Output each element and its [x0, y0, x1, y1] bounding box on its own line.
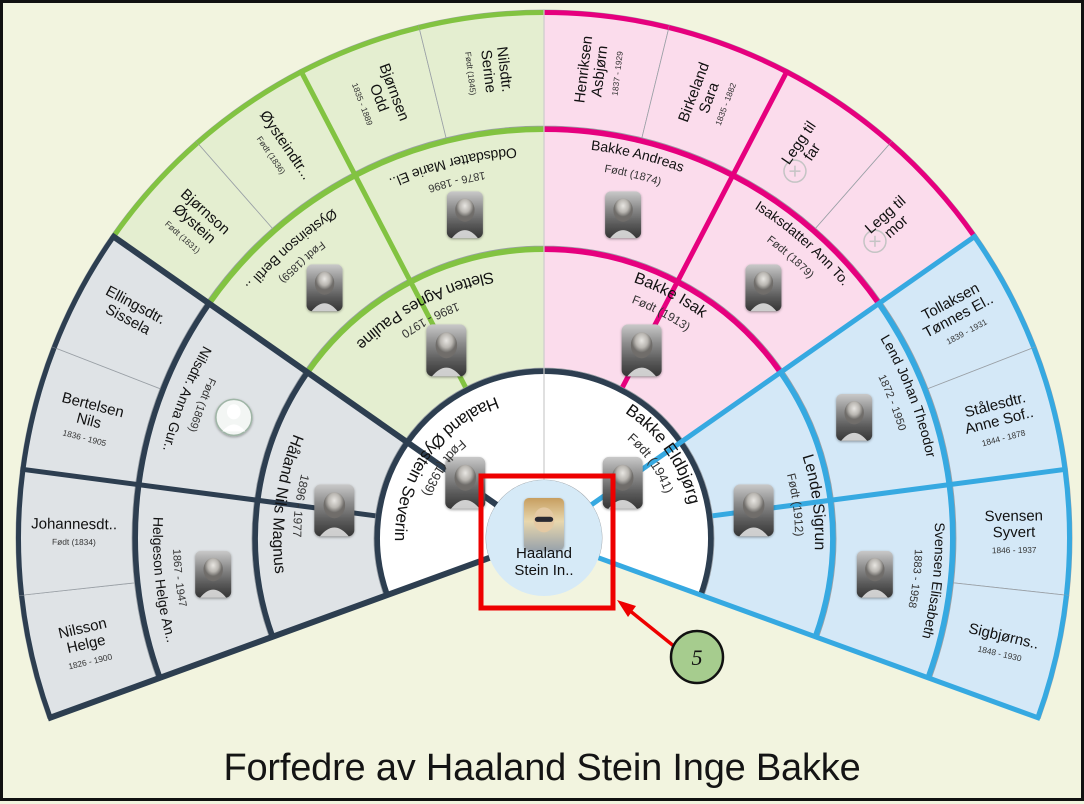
person-label: Nilsdtr.SerineFødt (1845): [463, 46, 515, 97]
person-dates: Født (1834): [52, 537, 96, 547]
person-dates: 1846 - 1937: [992, 545, 1037, 555]
annotation-arrow: [624, 606, 675, 647]
portrait-photo: [734, 484, 774, 536]
center-person-node[interactable]: HaalandStein In..: [486, 480, 602, 596]
portrait-photo: [745, 264, 781, 311]
portrait-photo: [857, 551, 893, 598]
portrait-photo: [836, 394, 872, 441]
person-label: SvensenSyvert1846 - 1937: [985, 507, 1044, 555]
chart-title: Forfedre av Haaland Stein Inge Bakke: [3, 747, 1081, 790]
portrait-photo: [426, 324, 466, 376]
portrait-photo: [447, 191, 483, 238]
placeholder-avatar: [216, 399, 252, 435]
step-marker-label: 5: [692, 645, 703, 670]
center-name-line2: Stein In..: [514, 562, 573, 579]
ancestor-fan-chart[interactable]: Haaland Øystein SeverinFødt (1939)Bakke …: [3, 3, 1084, 804]
portrait-photo: [603, 457, 643, 509]
portrait-photo: [307, 264, 343, 311]
person-name: Johannesdt..: [31, 515, 117, 533]
portrait-photo: [195, 551, 231, 598]
fan-segments: [16, 10, 1072, 719]
portrait-photo: [314, 484, 354, 536]
self-photo: [524, 498, 564, 550]
portrait-photo: [622, 324, 662, 376]
center-name-line1: Haaland: [516, 545, 572, 562]
portrait-photo: [605, 191, 641, 238]
chart-frame: Haaland Øystein SeverinFødt (1939)Bakke …: [0, 0, 1084, 801]
person-name: Svensen: [985, 507, 1044, 525]
person-name: Syvert: [993, 524, 1037, 541]
